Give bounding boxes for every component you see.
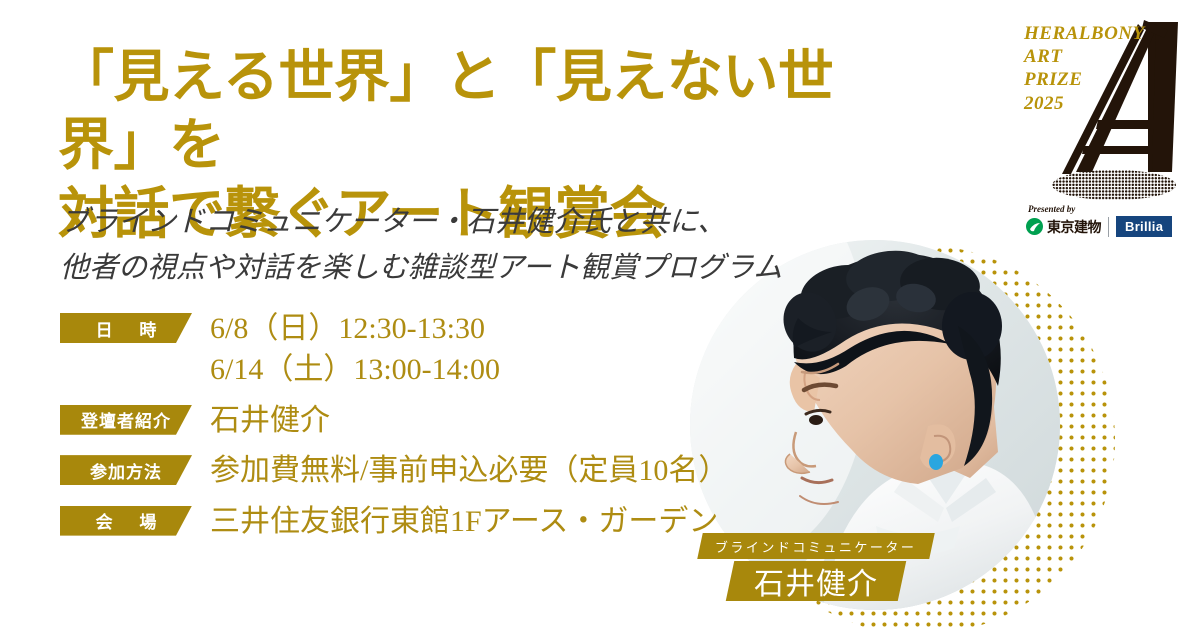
table-row: 日 時 6/8（日）12:30-13:30 6/14（土）13:00-14:00	[60, 308, 740, 391]
sponsor-logos: 東京建物 Brillia	[1026, 216, 1172, 237]
detail-label-speaker: 登壇者紹介	[60, 405, 192, 435]
speaker-role-label: ブラインドコミュニケーター	[715, 537, 917, 556]
table-row: 参加方法 参加費無料/事前申込必要（定員10名）	[60, 450, 740, 491]
presented-by-label: Presented by	[1028, 204, 1075, 214]
divider	[1108, 217, 1109, 237]
table-row: 登壇者紹介 石井健介	[60, 400, 740, 441]
table-row: 会 場 三井住友銀行東館1Fアース・ガーデン	[60, 501, 740, 542]
page-subtitle: ブラインドコミュニケーター・石井健介氏と共に、 他者の視点や対話を楽しむ雑談型ア…	[60, 200, 860, 292]
detail-label-venue: 会 場	[60, 506, 192, 536]
logo-wordmark: HERALBONY ART PRIZE 2025	[1024, 22, 1145, 115]
heralbony-art-prize-logo: HERALBONY ART PRIZE 2025 Presented by	[1022, 18, 1190, 246]
event-poster: 「見える世界」と「見えない世界」を 対話で繋ぐアート観賞会 ブラインドコミュニケ…	[0, 0, 1200, 630]
sponsor-name-tokyo-tatemono: 東京建物	[1047, 217, 1101, 237]
detail-value-venue: 三井住友銀行東館1Fアース・ガーデン	[210, 501, 740, 542]
logo-mark: HERALBONY ART PRIZE 2025	[1022, 18, 1190, 200]
detail-label-datetime: 日 時	[60, 313, 192, 343]
speaker-name-label: 石井健介	[754, 559, 878, 603]
event-details-list: 日 時 6/8（日）12:30-13:30 6/14（土）13:00-14:00…	[60, 308, 740, 551]
sponsor-tokyo-tatemono: 東京建物	[1026, 217, 1101, 237]
detail-label-participation: 参加方法	[60, 455, 192, 485]
sponsor-name-brillia: Brillia	[1116, 216, 1172, 237]
detail-value-speaker: 石井健介	[210, 400, 740, 441]
status-badge: 石井健介	[726, 561, 907, 601]
tatemono-swoosh-icon	[1026, 218, 1043, 235]
detail-value-datetime: 6/8（日）12:30-13:30 6/14（土）13:00-14:00	[210, 308, 740, 391]
detail-value-participation: 参加費無料/事前申込必要（定員10名）	[210, 450, 740, 491]
status-badge: ブラインドコミュニケーター	[697, 533, 935, 559]
